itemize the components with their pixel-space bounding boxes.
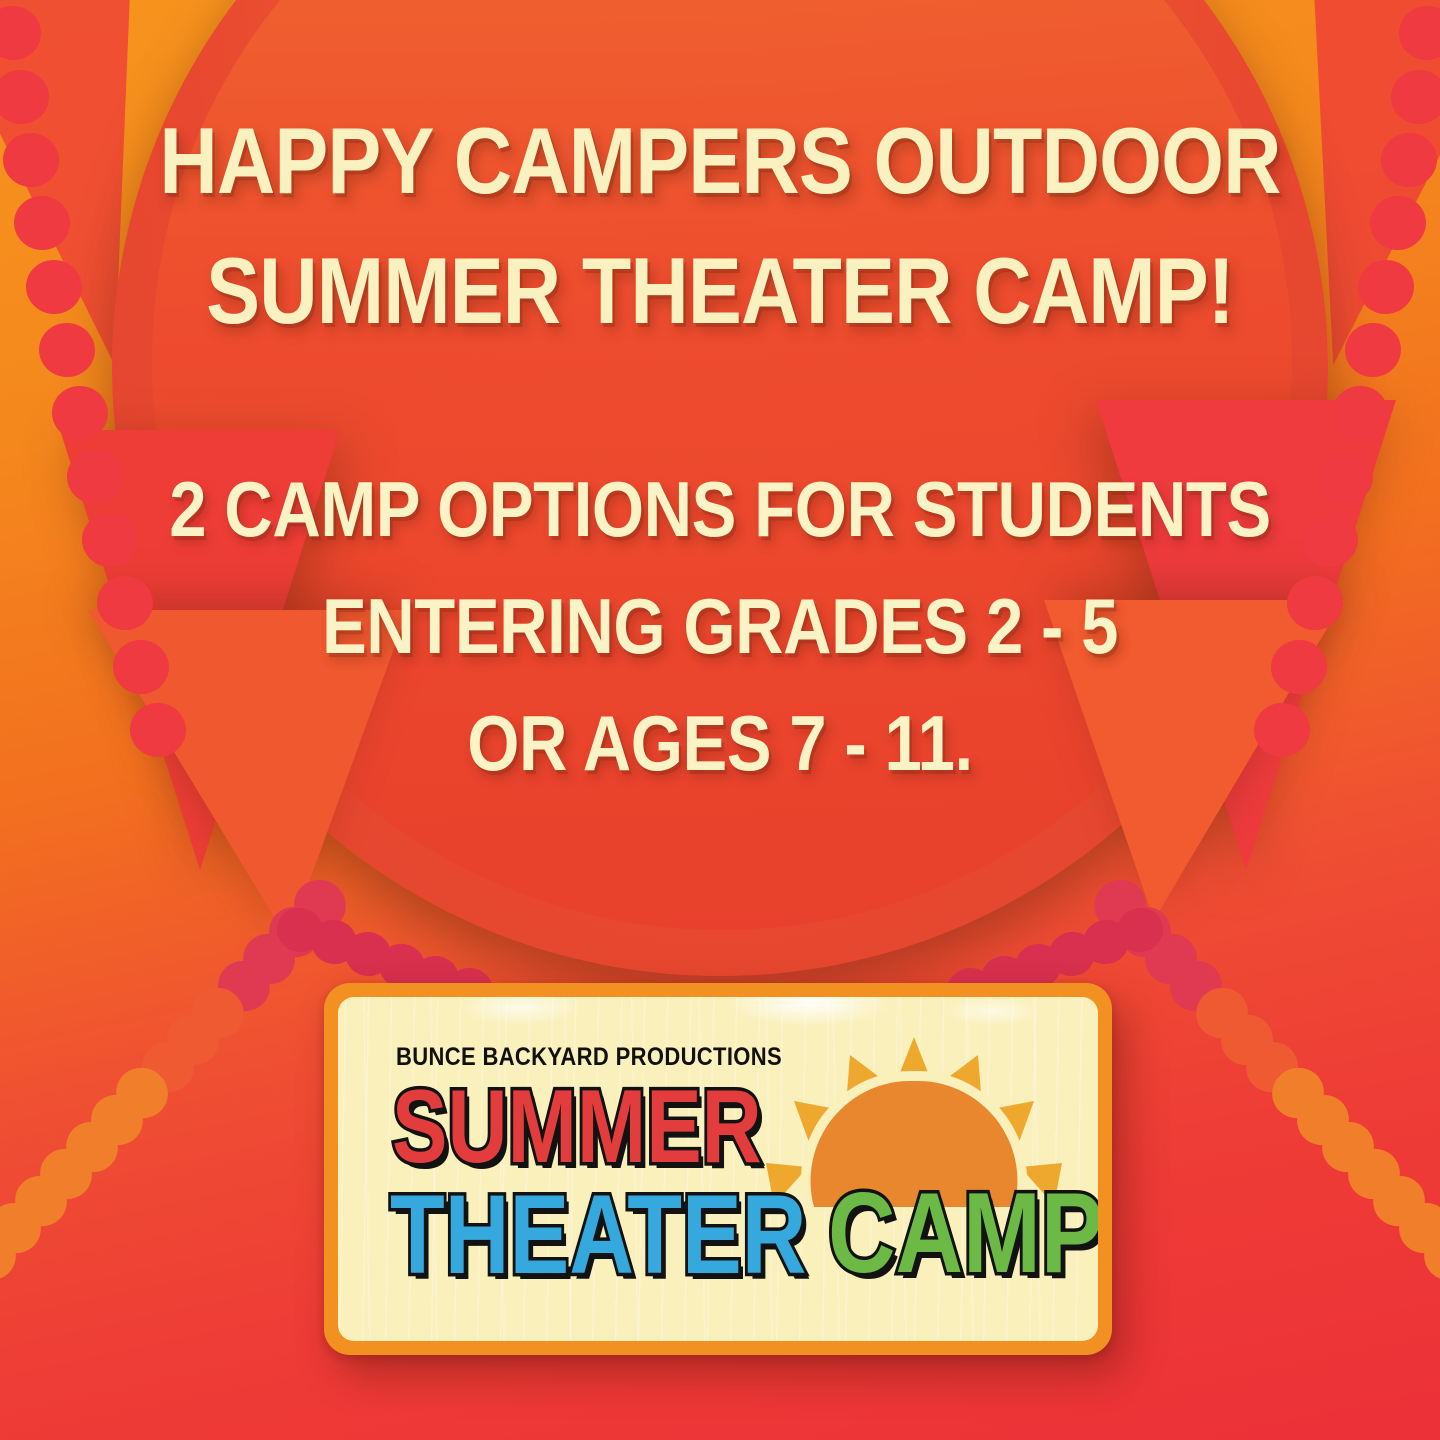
poster-copy: HAPPY CAMPERS OUTDOOR SUMMER THEATER CAM… [0, 96, 1440, 802]
background-dot [0, 0, 39, 1]
logo-brand-line: BUNCE BACKYARD PRODUCTIONS [396, 1043, 782, 1072]
headline-line-1: HAPPY CAMPERS OUTDOOR [101, 96, 1339, 226]
poster-canvas: HAPPY CAMPERS OUTDOOR SUMMER THEATER CAM… [0, 0, 1440, 1440]
background-dot [1401, 0, 1440, 1]
logo-card: BUNCE BACKYARD PRODUCTIONS SUMMER THEATE… [324, 983, 1112, 1355]
headline-line-2: SUMMER THEATER CAMP! [101, 226, 1339, 356]
background-dot [1395, 3, 1440, 64]
logo-word-summer: SUMMER [392, 1075, 762, 1179]
body-line-3: OR AGES 7 - 11. [101, 685, 1339, 802]
logo-word-camp: CAMP [828, 1177, 1098, 1291]
poster-subcopy: 2 CAMP OPTIONS FOR STUDENTS ENTERING GRA… [0, 451, 1440, 802]
logo-card-inner: BUNCE BACKYARD PRODUCTIONS SUMMER THEATE… [338, 997, 1098, 1341]
body-line-2: ENTERING GRADES 2 - 5 [101, 568, 1339, 685]
logo-word-theater: THEATER [390, 1179, 806, 1291]
body-line-1: 2 CAMP OPTIONS FOR STUDENTS [101, 451, 1339, 568]
background-dot [0, 3, 45, 64]
